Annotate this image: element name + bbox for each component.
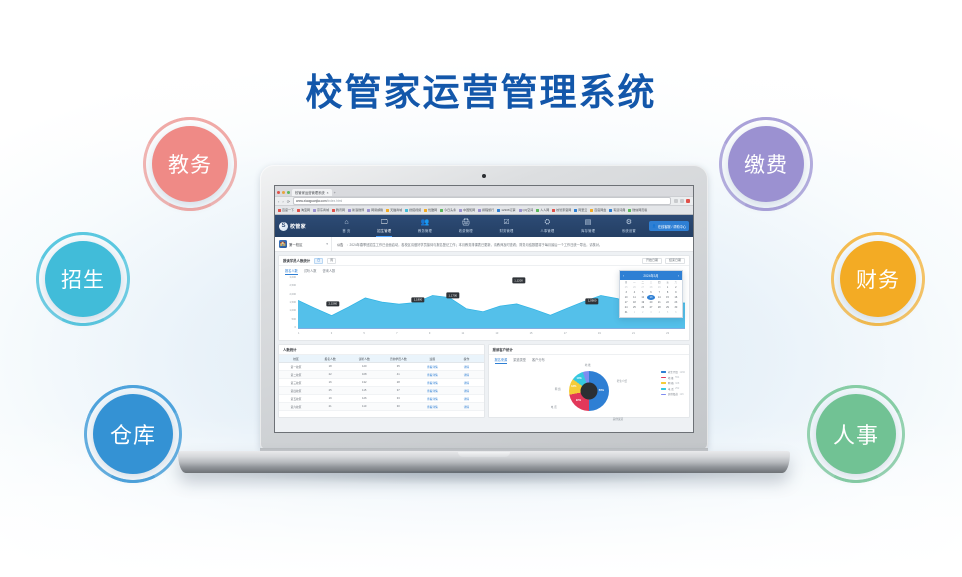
donut-slice-label: 10% [577,377,582,380]
chart-card-header: 报读学员人数统计 日 周 开始日期 结束日期 [279,256,689,266]
legend-label: 网 络 [668,381,674,385]
x-tick-label: 3 [331,332,332,335]
badge-caiwu[interactable]: 财务 [840,241,916,317]
browser-tab-bar: 校管家运营管理系统 × + [275,186,693,196]
y-tick-label: 1,000 [290,309,297,312]
nav-item-label: 人事管理 [540,228,554,233]
nav-item-label: 收费管理 [459,228,473,233]
campus-selector[interactable]: 🏫 第一校区 ▾ [275,237,332,251]
table-cell: 41 [381,371,415,379]
bookmark-item[interactable]: 网易邮箱 [367,208,383,212]
y-tick-label: 2,500 [290,284,297,287]
chart-tooltip: 1,0900 [585,299,598,305]
table-cell: 108 [347,371,381,379]
campus-icon: 🏫 [279,240,287,248]
badge-zhaosheng[interactable]: 招生 [45,241,121,317]
table-cell: 22 [313,371,347,379]
badge-jiaowu[interactable]: 教务 [152,126,228,202]
bookmark-item[interactable]: 新浪微博 [348,208,364,212]
table-header-row: 校区报名人数试听人数咨询学员人数班级操作 [279,355,484,363]
nav-item-zhaosheng[interactable]: 🖵招生管理 [374,215,394,237]
bookmark-label: 腾讯网 [336,208,345,212]
browser-chrome: 校管家运营管理系统 × + ‹ › ⟳ www.xiaoguanjia.com … [275,186,693,215]
table-cell-action[interactable]: 查看详情 [415,403,449,411]
bookmark-item[interactable]: 今日头条 [440,208,456,212]
bookmark-label: QQ空间 [523,208,534,212]
reload-icon[interactable]: ⟳ [287,199,290,204]
nav-item-renshi[interactable]: ⛭人事管理 [537,215,557,237]
legend-swatch [661,377,666,379]
legend-value: 1260 [679,371,685,374]
table-cell: 21 [313,403,347,411]
table-column-header: 咨询学员人数 [381,355,415,363]
table-cell-action[interactable]: 详情 [449,403,483,411]
legend-label: 老生介绍 [668,370,678,374]
legend-item[interactable]: 地 推554 [661,376,685,380]
tab-title: 校管家运营管理系统 [295,190,325,195]
chevron-down-icon[interactable]: ▾ [326,242,328,246]
chart-tab[interactable]: 报名人数 [285,268,298,275]
bookmark-item[interactable]: 校管家官网 [552,208,571,212]
maximize-button[interactable] [680,199,684,203]
table-cell: 第三校区 [279,379,313,387]
nav-shoufei-icon: 🖨 [461,219,470,226]
table-cell-action[interactable]: 详情 [449,387,483,395]
y-tick-label: 1,500 [290,301,297,304]
bookmark-label: 有道词典 [613,208,625,212]
donut-plot-area: 50%22%13%10%老生介绍电 话网 络地 推其他渠道 老生介绍1260地 … [489,364,690,417]
table-row: 第三校区1613228查看详情详情 [279,379,484,387]
app-logo[interactable]: S 校管家 [279,222,329,231]
x-tick-label: 21 [632,332,635,335]
bookmark-label: 优酷网 [428,208,437,212]
bookmark-favicon-icon [497,209,500,212]
x-tick-label: 11 [462,332,465,335]
donut-slice-label: 13% [571,385,576,388]
nav-item-label: 库存管理 [581,228,595,233]
donut-leader-label: 网 络 [555,387,561,391]
table-cell: 37 [381,387,415,395]
nav-item-jiaowu[interactable]: 👥教务管理 [415,215,435,237]
table-cell: 35 [381,363,415,371]
nav-item-label: 招生管理 [377,228,391,233]
bookmark-favicon-icon [590,209,593,212]
calendar-day[interactable]: 6 [672,310,680,315]
support-button[interactable]: 👤 在线客服 / 帮助中心 [649,221,689,231]
nav-kucun-icon: ▤ [585,219,592,226]
table-cell-action[interactable]: 查看详情 [415,379,449,387]
chart-tab[interactable]: 试听人数 [304,268,317,275]
url-suffix: /index.html [327,199,342,203]
table-cell: 25 [313,387,347,395]
nav-jiaowu-icon: 👥 [421,219,430,226]
donut-leader-label: 地 推 [585,363,591,367]
donut-slice-label: 22% [576,399,581,402]
bookmark-item[interactable]: 天猫商城 [386,208,402,212]
calendar-prev-icon[interactable]: ‹ [623,274,624,278]
bookmark-label: 网易邮箱 [371,208,383,212]
table-row: 第二校区2210841查看详情详情 [279,371,484,379]
bookmark-favicon-icon [297,209,300,212]
table-cell: 第一校区 [279,363,313,371]
browser-address-bar: ‹ › ⟳ www.xiaoguanjia.com /index.html [275,196,693,205]
bookmark-favicon-icon [386,209,389,212]
legend-value: 554 [675,376,679,379]
table-column-header: 班级 [415,355,449,363]
bookmark-label: 阿里云 [578,208,587,212]
bookmark-label: 搜狐视频 [409,208,421,212]
bookmark-item[interactable]: 百度网盘 [590,208,606,212]
x-tick-label: 19 [598,332,601,335]
bookmark-favicon-icon [628,209,631,212]
donut-tab[interactable]: 报名来源 [495,357,508,364]
legend-item[interactable]: 其他渠道126 [661,392,685,396]
logo-mark-icon: S [279,222,288,231]
bookmark-label: 淘宝网 [301,208,310,212]
bookmark-item[interactable]: 淘宝网 [297,208,310,212]
table-column-header: 试听人数 [347,355,381,363]
bookmark-favicon-icon [609,209,612,212]
chart-range-week[interactable]: 周 [327,258,336,264]
badge-wrap-caiwu: 财务 [840,241,916,317]
browser-tab[interactable]: 校管家运营管理系统 × [292,189,332,196]
legend-label: 电 话 [668,387,674,391]
bookmark-item[interactable]: 人人网 [536,208,549,212]
table-cell: 28 [381,379,415,387]
donut-center-hole [580,382,597,399]
bookmark-item[interactable]: 微信网页版 [628,208,647,212]
calendar-header: ‹ 2024年3月 › [620,271,682,280]
forward-icon[interactable]: › [282,199,283,204]
dashboard-body: 报读学员人数统计 日 周 开始日期 结束日期 报名人数试听人数咨询人数 3,00… [275,252,693,433]
donut-card-title: 报读客户统计 [493,347,513,352]
bookmark-item[interactable]: 百度一下 [278,208,294,212]
table-cell-action[interactable]: 查看详情 [415,371,449,379]
bookmark-label: 百度一下 [282,208,294,212]
nav-item-list: ⌂首 页🖵招生管理👥教务管理🖨收费管理☑财务管理⛭人事管理▤库存管理⚙系统设置 [329,215,649,237]
donut-chart: 50%22%13%10%老生介绍电 话网 络地 推其他渠道 [569,371,609,411]
chart-x-axis: 1357911131517192123 [298,329,685,337]
legend-value: 328 [675,382,679,385]
bookmark-label: 京东商城 [317,208,329,212]
bookmark-favicon-icon [552,209,555,212]
table-row: 第一校区1812035查看详情详情 [279,363,484,371]
chart-date-range: 开始日期 结束日期 [642,258,685,264]
bookmark-label: 人人网 [540,208,549,212]
table-cell: 110 [347,403,381,411]
legend-value: 252 [675,387,679,390]
table-cell: 33 [381,395,415,403]
chart-range-day[interactable]: 日 [314,258,323,264]
table-cell: 第六校区 [279,403,313,411]
bookmark-label: 携程旅行 [482,208,494,212]
calendar-day[interactable]: 2 [639,310,647,315]
chart-card-title: 报读学员人数统计 [283,258,310,263]
table-cell-action[interactable]: 详情 [449,379,483,387]
table-column-header: 报名人数 [313,355,347,363]
calendar-day[interactable]: 4 [655,310,663,315]
table-cell: 16 [313,379,347,387]
bookmark-label: 百度网盘 [594,208,606,212]
calendar-day[interactable]: 31 [622,310,630,315]
table-cell-action[interactable]: 查看详情 [415,387,449,395]
bookmark-favicon-icon [440,209,443,212]
support-button-label: 在线客服 / 帮助中心 [658,224,686,229]
badge-cangku[interactable]: 仓库 [93,394,173,474]
laptop-base-notch [458,452,510,457]
chart-tooltip: 1,1800 [411,297,424,303]
nav-item-kucun[interactable]: ▤库存管理 [578,215,598,237]
chart-tooltip: 1,1200 [512,278,525,284]
table-card-title: 人数统计 [283,347,297,352]
laptop-mockup: 校管家运营管理系统 × + ‹ › ⟳ www.xiaoguanjia.com … [178,165,790,483]
y-tick-label: 0 [295,326,296,329]
date-start-input[interactable]: 开始日期 [642,258,662,264]
table-column-header: 操作 [449,355,483,363]
tab-close-icon[interactable]: × [327,191,329,195]
calendar-day[interactable]: 5 [663,310,671,315]
legend-label: 其他渠道 [668,392,678,396]
customer-source-card: 报读客户统计 报名来源渠道类型客户分布 50%22%13%10%老生介绍电 话网… [488,344,691,418]
nav-caiwu-icon: ☑ [503,219,509,226]
table-cell-action[interactable]: 查看详情 [415,395,449,403]
legend-swatch [661,388,666,390]
window-maximize-dot[interactable] [287,191,290,194]
bookmark-favicon-icon [459,209,462,212]
bookmark-item[interactable]: 腾讯网 [332,208,345,212]
nav-item-xitong[interactable]: ⚙系统设置 [619,215,639,237]
bookmark-item[interactable]: 12306订票 [497,208,515,212]
back-icon[interactable]: ‹ [278,199,279,204]
new-tab-icon[interactable]: + [334,190,336,195]
bookmark-label: 天猫商城 [390,208,402,212]
table-cell: 120 [347,363,381,371]
donut-leader-label: 老生介绍 [617,379,627,383]
bookmark-favicon-icon [519,209,522,212]
enrollment-chart-card: 报读学员人数统计 日 周 开始日期 结束日期 报名人数试听人数咨询人数 3,00… [278,255,690,341]
nav-item-label: 教务管理 [418,228,432,233]
donut-leader-label: 其他渠道 [613,417,623,421]
legend-item[interactable]: 电 话252 [661,387,685,391]
bookmark-favicon-icon [278,209,281,212]
nav-item-label: 首 页 [342,228,350,233]
laptop-screen: 校管家运营管理系统 × + ‹ › ⟳ www.xiaoguanjia.com … [274,185,694,433]
table-cell-action[interactable]: 查看详情 [415,363,449,371]
x-tick-label: 13 [495,332,498,335]
date-picker-popup[interactable]: ‹ 2024年3月 › 日一二三四五六 25262728291234567891… [619,270,683,318]
bookmark-favicon-icon [313,209,316,212]
calendar-day[interactable]: 1 [630,310,638,315]
donut-legend: 老生介绍1260地 推554网 络328电 话252其他渠道126 [661,370,685,396]
legend-swatch [661,394,666,396]
table-scroll-region: 校区报名人数试听人数咨询学员人数班级操作 第一校区1812035查看详情详情第二… [279,355,484,417]
table-card-header: 人数统计 [279,345,484,355]
campus-name: 第一校区 [289,242,303,247]
laptop-lid: 校管家运营管理系统 × + ‹ › ⟳ www.xiaoguanjia.com … [260,165,708,450]
donut-slice-label: 50% [599,389,604,392]
bookmark-label: 今日头条 [444,208,456,212]
nav-item-shoufei[interactable]: 🖨收费管理 [456,215,476,237]
window-close-dot[interactable] [277,191,280,194]
table-cell-action[interactable]: 详情 [449,371,483,379]
nav-item-label: 系统设置 [622,228,636,233]
badge-wrap-renshi: 人事 [816,394,896,474]
bookmark-favicon-icon [536,209,539,212]
bookmark-favicon-icon [367,209,370,212]
app-navigation-bar: S 校管家 ⌂首 页🖵招生管理👥教务管理🖨收费管理☑财务管理⛭人事管理▤库存管理… [275,215,693,237]
minimize-button[interactable] [674,199,678,203]
window-minimize-dot[interactable] [282,191,285,194]
nav-item-caiwu[interactable]: ☑财务管理 [497,215,517,237]
donut-leader-label: 电 话 [551,405,557,409]
y-tick-label: 2,000 [290,293,297,296]
table-cell: 第二校区 [279,371,313,379]
user-icon: 👤 [652,224,656,228]
x-tick-label: 7 [396,332,397,335]
webcam-icon [482,174,486,178]
url-input[interactable]: www.xiaoguanjia.com /index.html [293,197,671,205]
table-cell: 第四校区 [279,387,313,395]
x-tick-label: 9 [429,332,430,335]
table-cell: 115 [347,387,381,395]
window-controls [674,199,690,203]
donut-card-header: 报读客户统计 [489,345,690,355]
x-tick-label: 15 [530,332,533,335]
badge-wrap-cangku: 仓库 [93,394,173,474]
legend-value: 126 [679,393,683,396]
bookmark-favicon-icon [348,209,351,212]
bookmark-favicon-icon [424,209,427,212]
bookmarks-bar: 百度一下淘宝网京东商城腾讯网新浪微博网易邮箱天猫商城搜狐视频优酷网今日头条中国知… [275,205,693,214]
x-tick-label: 23 [666,332,669,335]
nav-renshi-icon: ⛭ [545,219,551,226]
bookmark-item[interactable]: QQ空间 [519,208,534,212]
legend-label: 地 推 [668,376,674,380]
url-text: www.xiaoguanjia.com [296,199,327,203]
laptop-drop-shadow [198,471,770,485]
nav-item-label: 财务管理 [500,228,514,233]
table-cell: 19 [313,395,347,403]
x-tick-label: 1 [298,332,299,335]
y-tick-label: 500 [292,318,296,321]
page-title: 校管家运营管理系统 [0,62,962,116]
campus-stats-table: 校区报名人数试听人数咨询学员人数班级操作 第一校区1812035查看详情详情第二… [279,355,484,411]
campus-stats-card: 人数统计 校区报名人数试听人数咨询学员人数班级操作 第一校区1812035查看详… [278,344,485,418]
table-cell: 132 [347,379,381,387]
table-cell: 126 [347,395,381,403]
date-end-input[interactable]: 结束日期 [665,258,685,264]
badge-renshi[interactable]: 人事 [816,394,896,474]
bookmark-item[interactable]: 有道词典 [609,208,625,212]
chart-y-axis: 3,0002,5002,0001,5001,0005000 [282,276,296,329]
table-cell: 30 [381,403,415,411]
bookmark-item[interactable]: 京东商城 [313,208,329,212]
bookmark-item[interactable]: 优酷网 [424,208,437,212]
bookmark-favicon-icon [405,209,408,212]
nav-zhaosheng-icon: 🖵 [381,219,388,226]
bookmark-favicon-icon [332,209,335,212]
bookmark-label: 12306订票 [501,208,515,212]
bookmark-label: 新浪微博 [352,208,364,212]
dashboard-bottom-row: 人数统计 校区报名人数试听人数咨询学员人数班级操作 第一校区1812035查看详… [278,344,690,418]
bookmark-label: 中国知网 [463,208,475,212]
bookmark-item[interactable]: 阿里云 [574,208,587,212]
calendar-day-grid[interactable]: 2526272829123456789101112131415161718192… [620,285,682,317]
nav-item-home[interactable]: ⌂首 页 [339,215,353,237]
calendar-day[interactable]: 3 [647,310,655,315]
announcement-text: ：2024年春季班招生工作已全面启动，各校区请做好学员接待与报名登记工作；本月教… [346,242,602,247]
table-cell-action[interactable]: 详情 [449,363,483,371]
legend-swatch [661,382,666,384]
bookmark-favicon-icon [574,209,577,212]
donut-tab[interactable]: 客户分布 [532,357,545,364]
table-row: 第五校区1912633查看详情详情 [279,395,484,403]
table-cell: 18 [313,363,347,371]
bookmark-favicon-icon [478,209,481,212]
table-row: 第六校区2111030查看详情详情 [279,403,484,411]
announcement-ticker[interactable]: 公告 ：2024年春季班招生工作已全面启动，各校区请做好学员接待与报名登记工作；… [332,242,693,247]
x-tick-label: 5 [363,332,364,335]
table-cell-action[interactable]: 详情 [449,395,483,403]
logo-text: 校管家 [290,223,306,230]
badge-wrap-zhaosheng: 招生 [45,241,121,317]
x-tick-label: 17 [564,332,567,335]
legend-item[interactable]: 网 络328 [661,381,685,385]
donut-tab[interactable]: 渠道类型 [513,357,526,364]
badge-wrap-jiaofei: 缴费 [728,126,804,202]
nav-home-icon: ⌂ [344,219,348,226]
table-body: 第一校区1812035查看详情详情第二校区2210841查看详情详情第三校区16… [279,363,484,411]
y-tick-label: 3,000 [290,276,297,279]
chart-tooltip: 1,1700 [446,293,459,299]
legend-item[interactable]: 老生介绍1260 [661,370,685,374]
bookmark-label: 微信网页版 [632,208,647,212]
table-column-header: 校区 [279,355,313,363]
bookmark-item[interactable]: 中国知网 [459,208,475,212]
calendar-next-icon[interactable]: › [678,274,679,278]
badge-wrap-jiaowu: 教务 [152,126,228,202]
announcement-tag: 公告 [337,242,343,247]
bookmark-item[interactable]: 携程旅行 [478,208,494,212]
table-row: 第四校区2511537查看详情详情 [279,387,484,395]
nav-xitong-icon: ⚙ [626,219,632,226]
app-sub-header: 🏫 第一校区 ▾ 公告 ：2024年春季班招生工作已全面启动，各校区请做好学员接… [275,237,693,252]
chart-tooltip: 2,1560 [326,301,339,307]
chart-tab[interactable]: 咨询人数 [323,268,336,275]
legend-swatch [661,371,666,373]
bookmark-item[interactable]: 搜狐视频 [405,208,421,212]
close-button[interactable] [686,199,690,203]
table-cell: 第五校区 [279,395,313,403]
calendar-month-label: 2024年3月 [643,273,658,278]
badge-jiaofei[interactable]: 缴费 [728,126,804,202]
bookmark-label: 校管家官网 [556,208,571,212]
